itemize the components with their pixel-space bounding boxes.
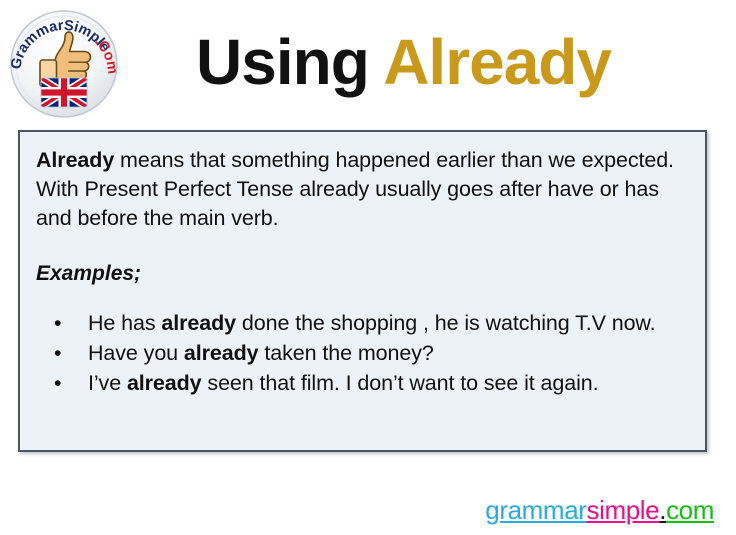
list-item-post: seen that film. I don’t want to see it a… bbox=[202, 371, 599, 395]
lesson-content-box: Already means that something happened ea… bbox=[18, 130, 707, 452]
list-item-pre: He has bbox=[88, 311, 161, 335]
list-item: • I’ve already seen that film. I don’t w… bbox=[36, 369, 689, 398]
list-item-keyword: already bbox=[184, 341, 259, 365]
url-part-grammar: grammar bbox=[485, 495, 586, 525]
definition-keyword: Already bbox=[36, 148, 114, 172]
list-item: • Have you already taken the money? bbox=[36, 339, 689, 368]
bullet-icon: • bbox=[54, 309, 61, 338]
site-footer: grammarsimple.com bbox=[485, 493, 714, 527]
bullet-icon: • bbox=[54, 339, 61, 368]
grammarsimple-logo[interactable]: GrammarSimple .Com bbox=[8, 8, 120, 120]
definition-paragraph: Already means that something happened ea… bbox=[36, 146, 689, 233]
list-item-post: taken the money? bbox=[259, 341, 434, 365]
list-item-post: done the shopping , he is watching T.V n… bbox=[236, 311, 656, 335]
page-header: GrammarSimple .Com bbox=[0, 0, 736, 122]
list-item-keyword: already bbox=[161, 311, 236, 335]
website-url-link[interactable]: grammarsimple.com bbox=[485, 495, 714, 525]
list-item-keyword: already bbox=[127, 371, 202, 395]
page-title-part-using: Using bbox=[196, 26, 383, 98]
url-part-simple: simple bbox=[587, 495, 660, 525]
examples-list: • He has already done the shopping , he … bbox=[36, 309, 689, 398]
url-part-com: com bbox=[666, 495, 714, 525]
uk-flag-icon bbox=[41, 78, 87, 107]
definition-text: means that something happened earlier th… bbox=[36, 148, 674, 230]
list-item-pre: Have you bbox=[88, 341, 184, 365]
list-item-pre: I’ve bbox=[88, 371, 127, 395]
page-title: Using Already bbox=[196, 12, 716, 112]
bullet-icon: • bbox=[54, 369, 61, 398]
page-title-part-already: Already bbox=[383, 26, 611, 98]
list-item: • He has already done the shopping , he … bbox=[36, 309, 689, 338]
examples-label: Examples; bbox=[36, 261, 689, 287]
